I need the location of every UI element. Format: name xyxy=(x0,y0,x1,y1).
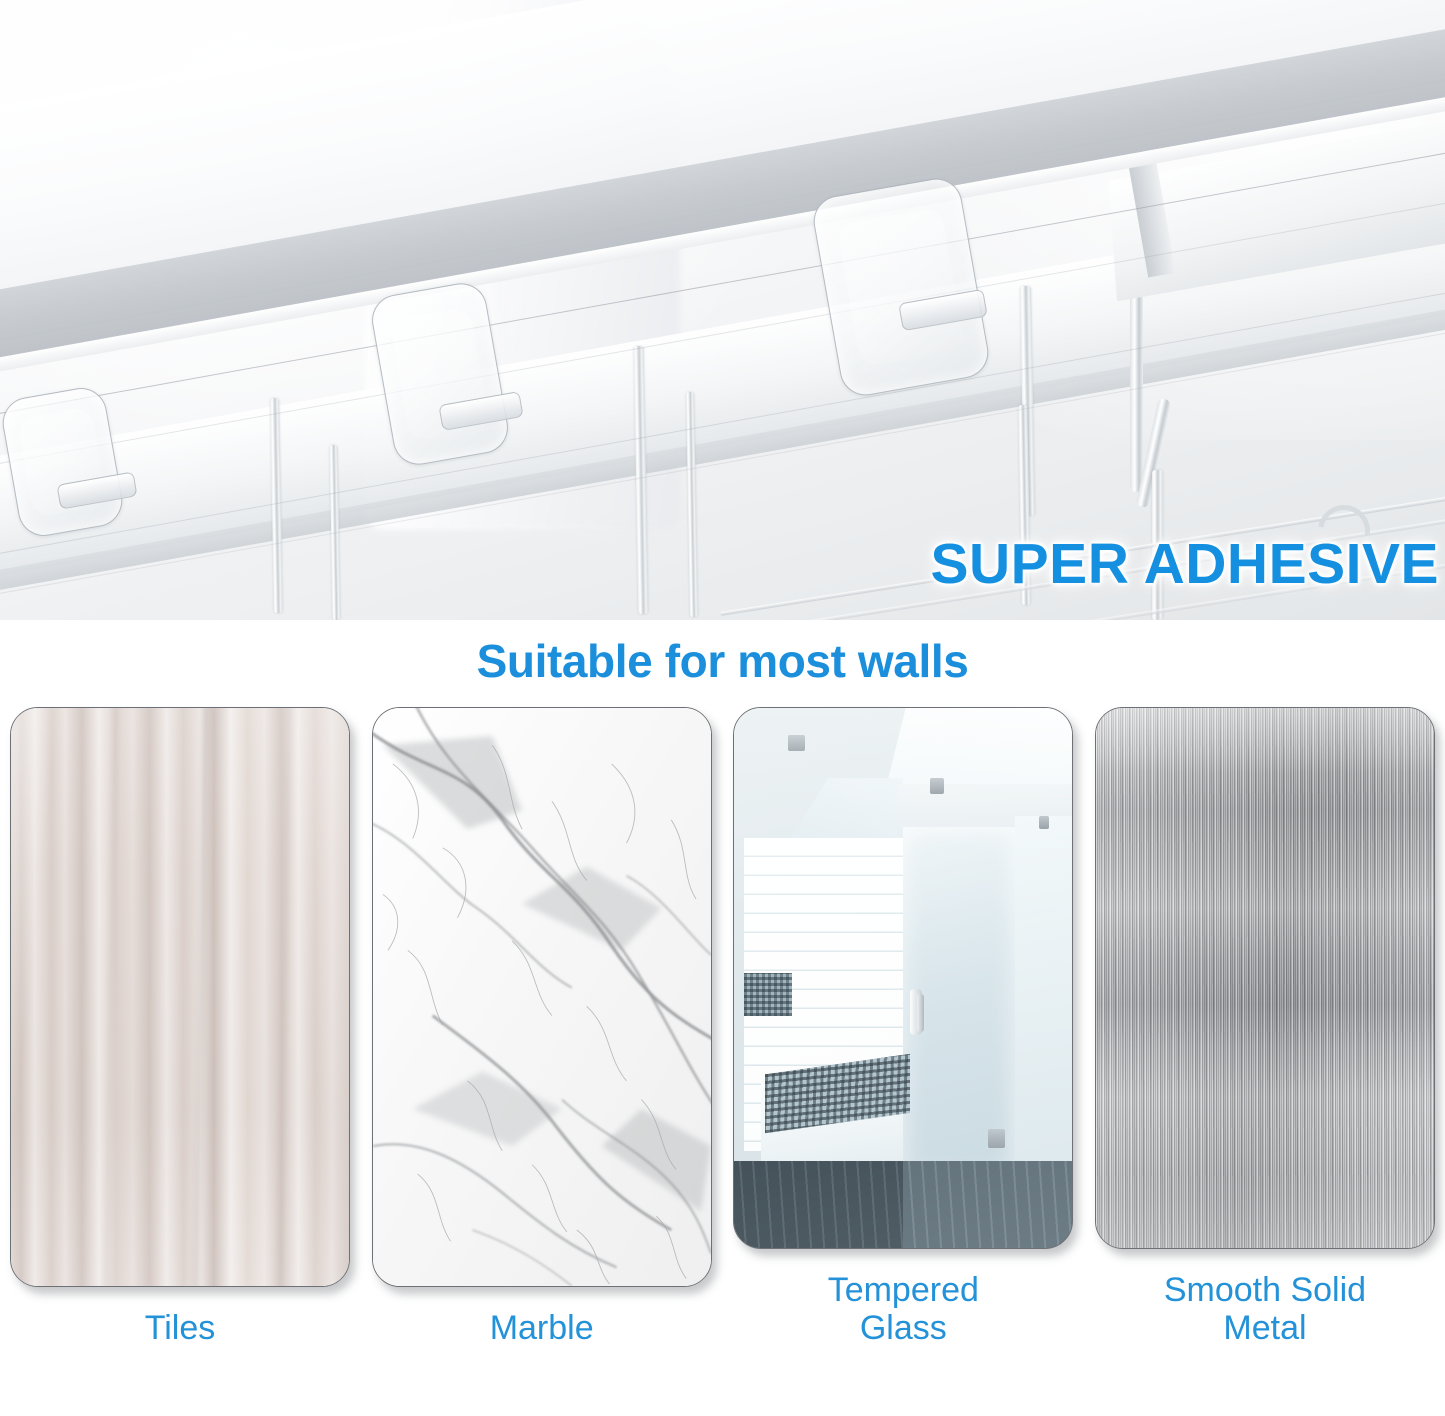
swatch-item-tempered-glass[interactable]: Tempered Glass xyxy=(729,707,1077,1347)
glass-hinge-mid xyxy=(930,778,944,794)
tiles-texture xyxy=(11,708,349,1286)
adhesive-pad-1 xyxy=(0,384,126,540)
swatch-image-tempered-glass xyxy=(733,707,1073,1249)
glass-hinge-bottom xyxy=(988,1129,1005,1148)
product-marketing-image: SUPER ADHESIVE Suitable for most walls T… xyxy=(0,0,1445,1416)
super-adhesive-headline: SUPER ADHESIVE xyxy=(930,531,1439,597)
swatch-image-solid-metal xyxy=(1095,707,1435,1249)
glass-floor-lit-area xyxy=(903,1161,1072,1247)
suitable-walls-section: Suitable for most walls Tiles xyxy=(0,620,1445,1416)
marble-texture xyxy=(373,708,711,1286)
swatch-image-marble xyxy=(372,707,712,1287)
glass-skylight xyxy=(885,707,1073,789)
swatch-caption-marble: Marble xyxy=(490,1309,594,1347)
marble-vein-art xyxy=(373,708,711,1286)
section-title: Suitable for most walls xyxy=(0,634,1445,688)
swatch-caption-solid-metal: Smooth Solid Metal xyxy=(1164,1271,1366,1347)
tempered-glass-texture xyxy=(734,708,1072,1248)
glass-door-handle-bar xyxy=(917,994,924,1032)
swatch-item-tiles[interactable]: Tiles xyxy=(6,707,354,1347)
hero-product-photo: SUPER ADHESIVE xyxy=(0,0,1445,620)
swatch-caption-tempered-glass: Tempered Glass xyxy=(828,1271,979,1347)
swatch-item-marble[interactable]: Marble xyxy=(368,707,716,1347)
swatch-image-tiles xyxy=(10,707,350,1287)
adhesive-pad-3-inner xyxy=(836,207,966,367)
brushed-metal-texture xyxy=(1096,708,1434,1248)
material-swatch-row: Tiles xyxy=(0,707,1445,1347)
glass-mosaic-niche xyxy=(744,973,791,1016)
glass-side-panel xyxy=(1015,816,1073,1183)
glass-hinge-wall xyxy=(1039,816,1049,829)
glass-hinge-top xyxy=(788,735,805,751)
swatch-caption-tiles: Tiles xyxy=(145,1309,216,1347)
swatch-item-solid-metal[interactable]: Smooth Solid Metal xyxy=(1091,707,1439,1347)
